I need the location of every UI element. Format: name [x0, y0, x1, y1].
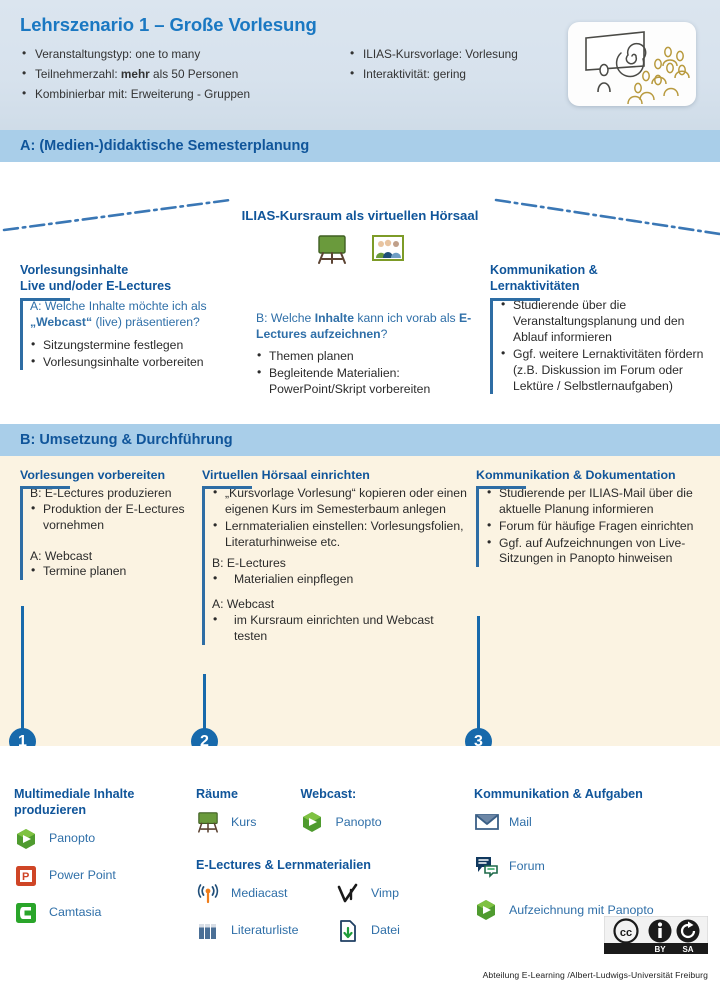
header-panel: Lehrszenario 1 – Große Vorlesung Veranst… — [0, 0, 720, 130]
list-item: Sitzungstermine festlegen — [30, 338, 252, 354]
webcast-heading: Webcast: — [300, 786, 381, 802]
panopto-icon — [474, 898, 498, 922]
list-item: Materialien einpflegen — [212, 572, 470, 588]
rooms-heading: Räume — [196, 786, 256, 802]
spacer — [30, 535, 196, 543]
section-a-label: A: (Medien-)didaktische Semesterplanung — [20, 138, 309, 154]
heading-line-1: Kommunikation & — [490, 262, 712, 278]
bullet-text: Teilnehmerzahl: — [35, 67, 121, 81]
electures-row-2: Literaturliste Datei — [196, 919, 472, 956]
connector-line-2 — [203, 674, 206, 734]
mail-envelope-icon — [474, 810, 498, 834]
list-item: Produktion der E-Lectures vornehmen — [30, 502, 196, 534]
rooms-group: Räume Kurs — [196, 786, 256, 847]
tool-label: Vimp — [371, 886, 399, 902]
column-heading: Vorlesungsinhalte Live und/oder E-Lectur… — [20, 262, 252, 294]
tool-item-kurs[interactable]: Kurs — [196, 810, 256, 834]
tool-item-panopto-webcast[interactable]: Panopto — [300, 810, 381, 834]
tool-item-panopto[interactable]: Panopto — [14, 827, 196, 851]
sa-label: SA — [682, 945, 693, 954]
tools-heading: Multimediale Inhalte produzieren — [14, 786, 196, 819]
column-electures: B: Welche Inhalte kann ich vorab als E-L… — [256, 310, 480, 399]
list-item: Studierende per ILIAS-Mail über die aktu… — [486, 486, 716, 518]
vimp-checkmark-icon — [336, 882, 360, 906]
bullet-text: Veranstaltungstyp: one to many — [35, 47, 200, 61]
blackboard-easel-icon — [196, 810, 220, 834]
column-heading: Kommunikation & Dokumentation — [476, 468, 716, 482]
cc-by-sa-badge: cc BY SA — [604, 916, 708, 954]
list-item: Interaktivität: gering — [348, 67, 558, 82]
list-item: im Kursraum einrichten und Webcast teste… — [212, 613, 470, 645]
electures-heading: E-Lectures & Lernmaterialien — [196, 857, 472, 873]
book-stack-icon — [196, 919, 220, 943]
tool-item-forum[interactable]: Forum — [474, 854, 714, 878]
panopto-icon — [300, 810, 324, 834]
bracket-container: Studierende per ILIAS-Mail über die aktu… — [476, 486, 716, 567]
tool-item-mail[interactable]: Mail — [474, 810, 714, 834]
bracket-container: Studierende über die Veranstaltungsplanu… — [490, 298, 712, 394]
tool-item-datei[interactable]: Datei — [336, 919, 400, 943]
by-label: BY — [654, 945, 666, 954]
bullet-tail: als 50 Personen — [150, 67, 239, 81]
connector-line-1 — [21, 606, 24, 734]
question-middle: kann ich vorab als — [354, 311, 459, 325]
question-emphasis-1: Inhalte — [315, 311, 354, 325]
list-item: Themen planen — [256, 349, 480, 365]
camtasia-icon — [14, 901, 38, 925]
blackboard-easel-icon — [315, 232, 349, 271]
section-a-content: ILIAS-Kursraum als virtuellen Hörsaal — [0, 162, 720, 424]
tool-label: Forum — [509, 859, 545, 875]
svg-text:P: P — [22, 871, 29, 883]
label-b: B: E-Lectures — [212, 556, 470, 572]
question-prefix: B: Welche — [256, 311, 315, 325]
column-kommunikation: Kommunikation & Lernaktivitäten Studiere… — [490, 262, 712, 395]
tool-label: Camtasia — [49, 905, 101, 921]
column-vorlesungen-vorbereiten: Vorlesungen vorbereiten B: E-Lectures pr… — [20, 468, 196, 581]
column-heading: Vorlesungen vorbereiten — [20, 468, 196, 482]
question-text: B: Welche Inhalte kann ich vorab als E-L… — [256, 310, 480, 342]
tools-section: Multimediale Inhalte produzieren Panopto… — [0, 746, 720, 992]
group-of-people-icon — [371, 232, 405, 271]
list-item: Vorlesungsinhalte vorbereiten — [30, 355, 252, 371]
bracket-container: „Kursvorlage Vorlesung“ kopieren oder ei… — [202, 486, 470, 645]
tool-item-camtasia[interactable]: Camtasia — [14, 901, 196, 925]
heading-line-1: Vorlesungsinhalte — [20, 262, 252, 278]
list-item: Teilnehmerzahl: mehr als 50 Personen — [20, 67, 336, 82]
panopto-icon — [14, 827, 38, 851]
question-tail: (live) präsentieren? — [92, 315, 200, 329]
lecture-hall-illustration — [568, 22, 696, 106]
list-item: Studierende über die Veranstaltungsplanu… — [500, 298, 712, 346]
bullet-text: ILIAS-Kursvorlage: Vorlesung — [363, 47, 518, 61]
tool-label: Kurs — [231, 815, 256, 831]
list-item: „Kursvorlage Vorlesung“ kopieren oder ei… — [212, 486, 470, 518]
column-hoersaal-einrichten: Virtuellen Hörsaal einrichten „Kursvorla… — [202, 468, 470, 646]
tool-label: Mediacast — [231, 886, 287, 902]
section-b-band: B: Umsetzung & Durchführung — [0, 424, 720, 456]
webcast-group: Webcast: Panopto — [300, 786, 381, 847]
spacer — [212, 589, 470, 597]
tool-label: Literaturliste — [231, 923, 299, 939]
tool-label: Power Point — [49, 868, 116, 884]
bracket-container: A: Welche Inhalte möchte ich als „Webcas… — [20, 298, 252, 370]
tool-item-vimp[interactable]: Vimp — [336, 882, 399, 906]
heading-line-2: Lernaktivitäten — [490, 278, 712, 294]
tools-column-1: Multimediale Inhalte produzieren Panopto… — [14, 786, 196, 938]
label-b: B: E-Lectures produzieren — [30, 486, 196, 502]
tools-column-3: Kommunikation & Aufgaben Mail Forum — [474, 786, 714, 935]
cc-letters: cc — [620, 927, 632, 939]
bullet-emphasis: mehr — [121, 67, 150, 81]
column-kommunikation-dokumentation: Kommunikation & Dokumentation Studierend… — [476, 468, 716, 568]
ilias-courseroom-title: ILIAS-Kursraum als virtuellen Hörsaal — [0, 208, 720, 223]
footer-attribution: Abteilung E-Learning /Albert-Ludwigs-Uni… — [483, 970, 708, 980]
tool-item-literaturliste[interactable]: Literaturliste — [196, 919, 322, 943]
electures-row-1: Mediacast Vimp — [196, 882, 472, 919]
file-download-icon — [336, 919, 360, 943]
header-bullets-right: ILIAS-Kursvorlage: Vorlesung Interaktivi… — [348, 47, 558, 102]
list-item: Forum für häufige Fragen einrichten — [486, 519, 716, 535]
tool-label: Mail — [509, 815, 532, 831]
list-item: Begleitende Materialien: PowerPoint/Skri… — [256, 366, 480, 398]
heading-line-2: Live und/oder E-Lectures — [20, 278, 252, 294]
list-item: Kombinierbar mit: Erweiterung - Gruppen — [20, 87, 336, 102]
bracket-container: B: E-Lectures produzieren Produktion der… — [20, 486, 196, 580]
question-text: A: Welche Inhalte möchte ich als „Webcas… — [30, 298, 252, 330]
list-item: Termine planen — [30, 564, 196, 580]
header-bullets-left: Veranstaltungstyp: one to many Teilnehme… — [20, 47, 336, 102]
bullet-text: Kombinierbar mit: Erweiterung - Gruppen — [35, 87, 250, 101]
list-item: Ggf. auf Aufzeichnungen von Live-Sitzung… — [486, 536, 716, 568]
list-item: Ggf. weitere Lernaktivitäten fördern (z.… — [500, 347, 712, 395]
section-b-label: B: Umsetzung & Durchführung — [20, 432, 233, 448]
tools-column-2: Räume Kurs Webcast: — [196, 786, 472, 956]
column-heading: Virtuellen Hörsaal einrichten — [202, 468, 470, 482]
question-emphasis: „Webcast“ — [30, 315, 92, 329]
forum-speech-bubble-icon — [474, 854, 498, 878]
section-a-band: A: (Medien-)didaktische Semesterplanung — [0, 130, 720, 162]
list-item: ILIAS-Kursvorlage: Vorlesung — [348, 47, 558, 62]
rooms-webcast-row: Räume Kurs Webcast: — [196, 786, 472, 847]
tools-heading: Kommunikation & Aufgaben — [474, 786, 714, 802]
tool-item-mediacast[interactable]: Mediacast — [196, 882, 322, 906]
tool-label: Datei — [371, 923, 400, 939]
tool-label: Panopto — [335, 815, 381, 831]
powerpoint-icon: P — [14, 864, 38, 888]
question-prefix: A: Welche Inhalte möchte ich als — [30, 299, 207, 313]
question-tail: ? — [381, 327, 388, 341]
bullet-text: Interaktivität: gering — [363, 67, 466, 81]
tool-label: Panopto — [49, 831, 95, 847]
section-b-content: Vorlesungen vorbereiten B: E-Lectures pr… — [0, 456, 720, 746]
list-item: Veranstaltungstyp: one to many — [20, 47, 336, 62]
connector-line-3 — [477, 616, 480, 734]
tool-item-powerpoint[interactable]: P Power Point — [14, 864, 196, 888]
column-heading: Kommunikation & Lernaktivitäten — [490, 262, 712, 294]
mediacast-broadcast-icon — [196, 882, 220, 906]
label-a: A: Webcast — [30, 549, 196, 565]
list-item: Lernmaterialien einstellen: Vorlesungsfo… — [212, 519, 470, 551]
label-a: A: Webcast — [212, 597, 470, 613]
column-vorlesungsinhalte: Vorlesungsinhalte Live und/oder E-Lectur… — [20, 262, 252, 371]
